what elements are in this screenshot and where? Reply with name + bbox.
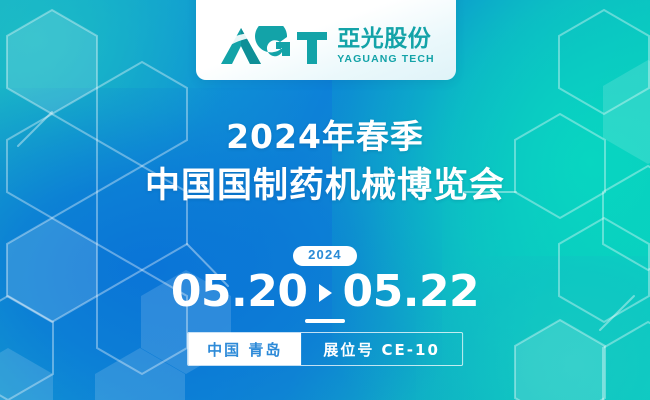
company-name-en: YAGUANG TECH bbox=[337, 54, 434, 65]
headline-line-2: 中国国制药机械博览会 bbox=[0, 165, 650, 207]
venue-city-label: 中国 青岛 bbox=[188, 333, 301, 365]
venue-bar: 中国 青岛 展位号 CE-10 bbox=[187, 332, 463, 366]
event-year-badge: 2024 bbox=[293, 246, 357, 266]
exhibition-banner: 亞光股份 YAGUANG TECH 2024年春季 中国国制药机械博览会 202… bbox=[0, 0, 650, 400]
date-underline-rule bbox=[305, 319, 345, 323]
company-name-cn: 亞光股份 bbox=[337, 28, 434, 51]
date-end: 05.22 bbox=[343, 269, 480, 315]
headline-block: 2024年春季 中国国制药机械博览会 bbox=[0, 118, 650, 207]
logo-lockup: 亞光股份 YAGUANG TECH bbox=[217, 26, 434, 66]
date-range-row: 05.20 05.22 bbox=[171, 269, 479, 315]
date-start: 05.20 bbox=[171, 269, 308, 315]
venue-booth-label: 展位号 CE-10 bbox=[301, 333, 462, 365]
logo-wordmark: 亞光股份 YAGUANG TECH bbox=[337, 28, 434, 65]
agt-logo-icon bbox=[217, 26, 329, 66]
event-date-block: 2024 05.20 05.22 bbox=[0, 246, 650, 323]
company-logo-card: 亞光股份 YAGUANG TECH bbox=[196, 0, 456, 80]
headline-line-1: 2024年春季 bbox=[0, 118, 650, 157]
play-triangle-icon bbox=[319, 284, 332, 302]
